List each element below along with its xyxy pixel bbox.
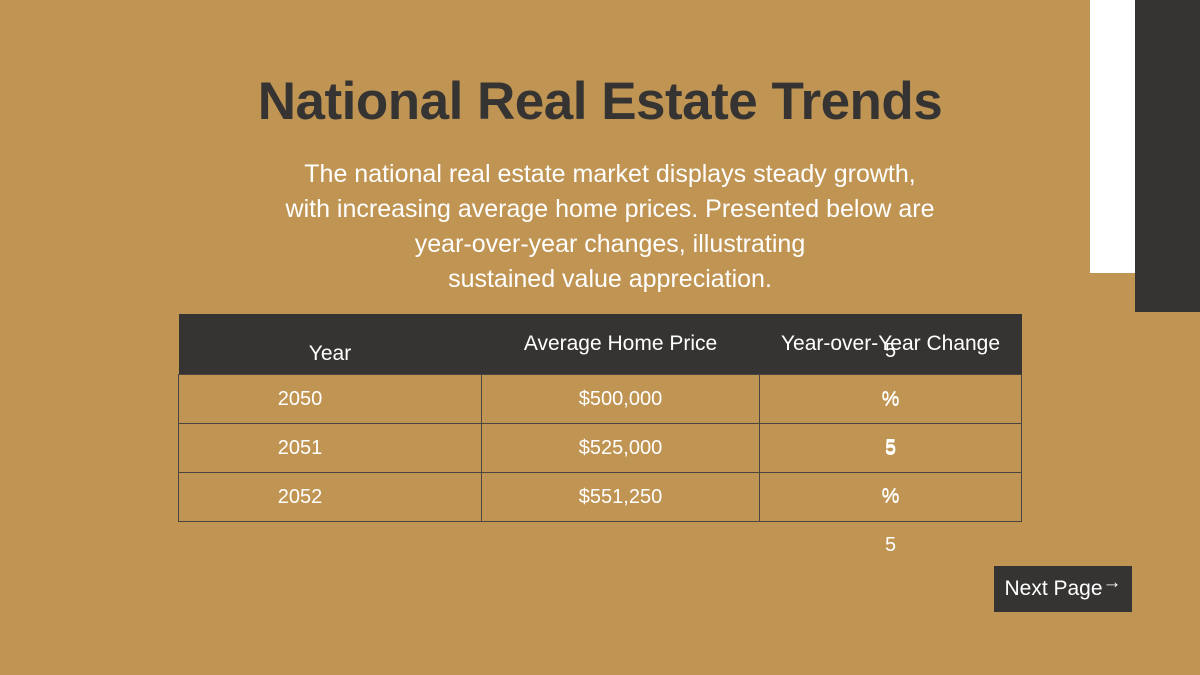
- decorative-bar-dark: [1135, 0, 1200, 312]
- cell-year: 2052: [179, 473, 482, 522]
- table-header-row: Year Average Home Price Year-over-Year C…: [179, 314, 1022, 375]
- subtitle-line-3: year-over-year changes, illustrating: [230, 227, 990, 262]
- cell-average-home-price: $525,000: [482, 424, 760, 473]
- cell-year-over-year-change: 5 % 5: [760, 473, 1022, 522]
- table-row: 2051 $525,000 % 5 %: [179, 424, 1022, 473]
- cell-year-over-year-change: % 5 %: [760, 424, 1022, 473]
- table-body: 2050 $500,000 5 % 5 2051 $525,000 % 5 % …: [179, 375, 1022, 522]
- next-page-button[interactable]: Next Page→: [994, 566, 1132, 612]
- table-header: Year Average Home Price Year-over-Year C…: [179, 314, 1022, 375]
- column-header-year-over-year-change: Year-over-Year Change: [760, 314, 1022, 375]
- table-row: 2050 $500,000 5 % 5: [179, 375, 1022, 424]
- subtitle-line-1: The national real estate market displays…: [230, 157, 990, 192]
- next-page-label: Next Page: [1004, 577, 1102, 601]
- cell-year: 2051: [179, 424, 482, 473]
- column-header-average-home-price: Average Home Price: [482, 314, 760, 375]
- cell-year: 2050: [179, 375, 482, 424]
- subtitle-line-4: sustained value appreciation.: [230, 262, 990, 297]
- cell-year-over-year-change: 5 % 5: [760, 375, 1022, 424]
- subtitle-line-2: with increasing average home prices. Pre…: [230, 192, 990, 227]
- page-subtitle: The national real estate market displays…: [230, 157, 990, 297]
- arrow-right-icon: →: [1103, 573, 1122, 592]
- real-estate-table: Year Average Home Price Year-over-Year C…: [178, 314, 1022, 522]
- column-header-year: Year: [179, 314, 482, 375]
- real-estate-table-wrapper: Year Average Home Price Year-over-Year C…: [178, 314, 1021, 522]
- decorative-bar-white: [1090, 0, 1135, 273]
- table-row: 2052 $551,250 5 % 5: [179, 473, 1022, 522]
- cell-average-home-price: $551,250: [482, 473, 760, 522]
- cell-average-home-price: $500,000: [482, 375, 760, 424]
- page-title: National Real Estate Trends: [0, 72, 1200, 133]
- slide-canvas: National Real Estate Trends The national…: [0, 0, 1200, 675]
